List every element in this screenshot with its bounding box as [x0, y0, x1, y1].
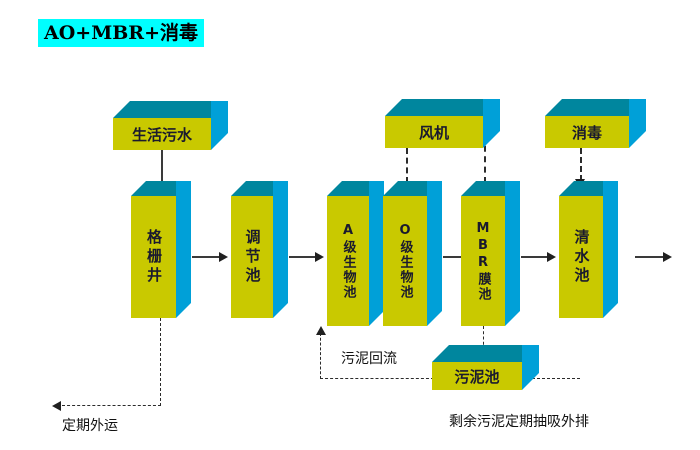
edge-disinfect-clear-line [580, 148, 582, 181]
box-front-face: O级生物池 [383, 196, 427, 326]
node-label-oxic: O级生物池 [399, 223, 412, 300]
node-blower[interactable]: 风机 [385, 116, 483, 148]
node-label-anoxic: A级生物池 [342, 223, 355, 300]
annotation-sludge-waste: 剩余污泥定期抽吸外排 [449, 411, 589, 431]
box-side-face [176, 181, 191, 318]
node-label-sludge: 污泥池 [454, 366, 499, 387]
node-label-grate: 格栅井 [146, 229, 161, 286]
edge-grate-equalize-line [192, 256, 221, 258]
node-label-mbr: MBR膜池 [477, 221, 490, 302]
node-label-clear: 清水池 [574, 229, 589, 286]
node-equalize[interactable]: 调节池 [231, 196, 273, 318]
node-clear[interactable]: 清水池 [559, 196, 603, 318]
box-side-face [522, 345, 539, 390]
edge-mbr-clear-line [521, 256, 549, 258]
box-front-face: 调节池 [231, 196, 273, 318]
node-label-disinfect: 消毒 [572, 122, 602, 143]
box-side-face [603, 181, 618, 318]
box-front-face: 污泥池 [432, 362, 522, 390]
box-front-face: 清水池 [559, 196, 603, 318]
edge-sludge-return-vline [320, 333, 321, 379]
box-top-face [113, 101, 211, 118]
edge-haul-arrow [52, 401, 61, 411]
edge-clear-outlet-line [635, 256, 665, 258]
box-front-face: 消毒 [545, 116, 629, 148]
edge-haul-vline [160, 318, 161, 406]
edge-equalize-anoxic-line [289, 256, 317, 258]
edge-sludge-return-hline [320, 378, 434, 379]
box-front-face: 生活污水 [113, 118, 211, 150]
box-side-face [505, 181, 520, 326]
node-sludge[interactable]: 污泥池 [432, 362, 522, 390]
edge-clear-outlet-arrow [663, 252, 672, 262]
box-front-face: 格栅井 [131, 196, 176, 318]
edge-mbr-clear-arrow [547, 252, 556, 262]
edge-grate-equalize-arrow [219, 252, 228, 262]
edge-equalize-anoxic-arrow [315, 252, 324, 262]
box-front-face: A级生物池 [327, 196, 369, 326]
node-oxic[interactable]: O级生物池 [383, 196, 427, 326]
annotation-haul-out: 定期外运 [62, 415, 118, 435]
node-sewage[interactable]: 生活污水 [113, 118, 211, 150]
page-title: AO+MBR+消毒 [38, 19, 204, 47]
box-side-face [629, 99, 646, 148]
edge-sludge-return-arrow [316, 326, 326, 335]
node-label-sewage: 生活污水 [132, 124, 192, 145]
box-side-face [483, 99, 500, 148]
box-side-face [369, 181, 384, 326]
node-anoxic[interactable]: A级生物池 [327, 196, 369, 326]
node-label-equalize: 调节池 [245, 229, 260, 286]
box-side-face [427, 181, 442, 326]
box-side-face [273, 181, 288, 318]
box-top-face [385, 99, 500, 116]
annotation-sludge-return: 污泥回流 [341, 348, 397, 368]
box-front-face: 风机 [385, 116, 483, 148]
diagram-canvas: AO+MBR+消毒 生活污水 风机 消毒 格栅井 [0, 0, 700, 450]
box-side-face [211, 101, 228, 150]
node-grate[interactable]: 格栅井 [131, 196, 176, 318]
node-disinfect[interactable]: 消毒 [545, 116, 629, 148]
node-mbr[interactable]: MBR膜池 [461, 196, 505, 326]
node-label-blower: 风机 [419, 122, 449, 143]
edge-blower-oxic-line [406, 148, 408, 183]
box-front-face: MBR膜池 [461, 196, 505, 326]
edge-haul-hline [62, 405, 161, 406]
